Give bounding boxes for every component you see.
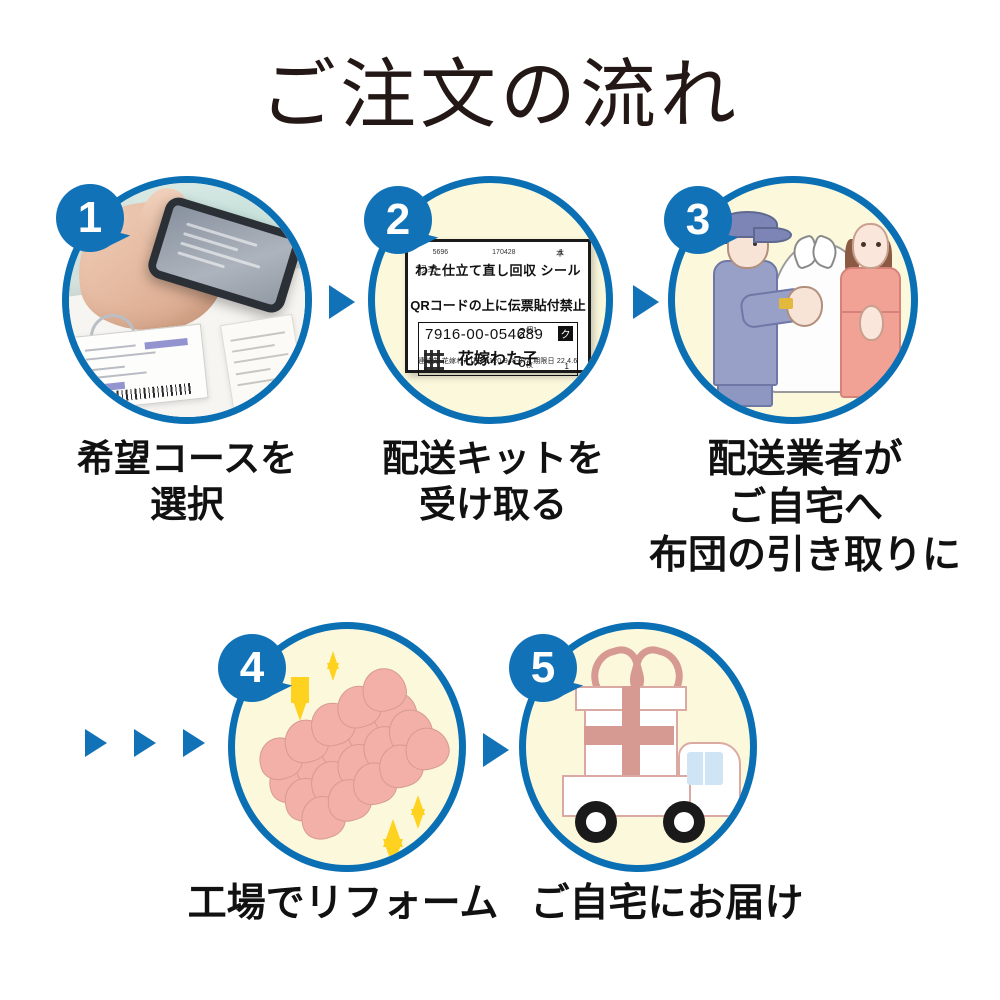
- arrow-4-to-5: [483, 733, 509, 767]
- kit-quantity: 2個1: [518, 325, 537, 342]
- wheel-icon: [575, 801, 617, 843]
- kit-notice: QRコードの上に伝票貼付禁止: [408, 295, 588, 314]
- step-badge-2: 2: [364, 186, 432, 254]
- kit-footer: 連絡先 花嫁わた(株) 0120-948-874 期限日 22.4.6: [418, 356, 578, 366]
- arrow-2-to-3: [633, 285, 659, 319]
- step-1-caption: 希望コースを 選択: [37, 436, 337, 527]
- lead-arrow-3: [183, 729, 205, 757]
- step-1: 1: [62, 176, 312, 424]
- page-title: ご注文の流れ: [0, 58, 1000, 134]
- receipt-slip-photo: [220, 314, 307, 420]
- step-4-caption: 工場でリフォーム: [178, 880, 508, 928]
- order-flow-infographic: ご注文の流れ: [0, 0, 1000, 1000]
- step-4: 4: [228, 622, 466, 872]
- kit-hon: 本: [556, 248, 564, 259]
- step-badge-5: 5: [509, 634, 577, 702]
- step-badge-1: 1: [56, 184, 124, 252]
- step-2-caption: 配送キットを 受け取る: [343, 436, 643, 527]
- kit-code-mid: 170428: [492, 249, 515, 256]
- wheel-icon: [663, 801, 705, 843]
- step-badge-4: 4: [218, 634, 286, 702]
- arrow-1-to-2: [329, 285, 355, 319]
- lead-arrow-2: [134, 729, 156, 757]
- kit-detail-box: 7916-00-054689 2個1 ク 花嫁わた子 6枚 1: [418, 322, 578, 376]
- step-2: 5696 170428 1 本 羽毛 わた仕立て直し回収 シール QRコードの上…: [368, 176, 613, 424]
- kit-ku-mark: ク: [558, 326, 573, 341]
- step-5-caption: ご自宅にお届け: [502, 880, 832, 928]
- sparkle-icon: [383, 839, 403, 867]
- step-5: 5: [519, 622, 757, 872]
- step-badge-3: 3: [664, 186, 732, 254]
- lead-arrow-1: [85, 729, 107, 757]
- step-3: 3: [668, 176, 918, 424]
- step-3-caption: 配送業者が ご自宅へ 布団の引き取りに: [625, 436, 985, 580]
- shipping-kit-label: 5696 170428 1 本 羽毛 わた仕立て直し回収 シール QRコードの上…: [405, 239, 591, 373]
- shipping-label-photo: [73, 324, 210, 412]
- sparkle-icon: [411, 809, 425, 829]
- kit-title: わた仕立て直し回収 シール: [408, 260, 588, 279]
